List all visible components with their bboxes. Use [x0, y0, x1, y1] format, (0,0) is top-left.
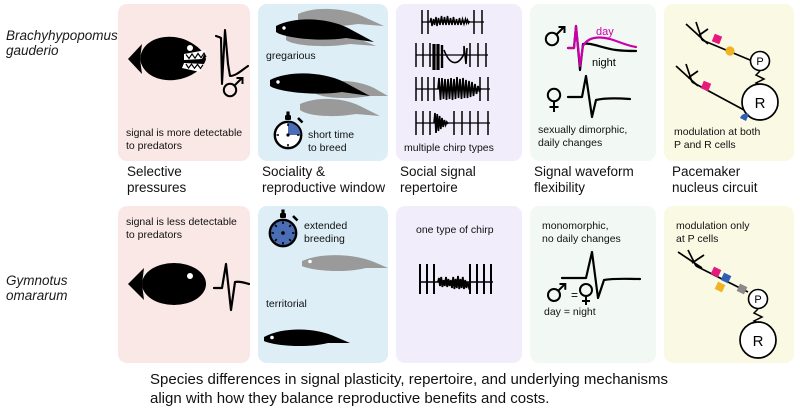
male-symbol-icon: [546, 27, 565, 45]
stopwatch-icon: [270, 210, 298, 247]
figure-caption-line1: Species differences in signal plasticity…: [150, 370, 790, 389]
receptor-marker-pink: [712, 34, 722, 44]
chirp-raster-multiple-icon: [396, 4, 522, 161]
label-night: night: [592, 57, 616, 69]
stopwatch-icon: [275, 112, 303, 149]
receptor-marker-pink: [711, 267, 722, 278]
chirp-raster-single-icon: [396, 206, 522, 363]
pacemaker-circuit-ponly-icon: P R: [664, 206, 794, 363]
svg-text:P: P: [756, 56, 763, 68]
figure-root: Brachyhypopomus gauderio Gymnotus omarar…: [0, 0, 800, 413]
svg-text:P: P: [754, 294, 761, 306]
panel-top-waveform: day night sexually dimorphic, daily chan…: [530, 4, 656, 161]
panel-bottom-selective-pressures: signal is less detectable to predators: [118, 206, 250, 363]
label-territorial: territorial: [266, 298, 307, 311]
male-symbol-icon: [224, 78, 243, 96]
column-header-repertoire: Social signal repertoire: [400, 164, 526, 196]
receptor-marker-yellow: [725, 46, 734, 55]
species-name-line2: omararum: [6, 288, 124, 303]
equality-sign: =: [571, 288, 578, 302]
column-header-sociality: Sociality & reproductive window: [262, 164, 398, 196]
figure-caption: Species differences in signal plasticity…: [150, 370, 790, 408]
caption-selective-pressures-top: signal is more detectable to predators: [126, 127, 250, 152]
column-header-pacemaker: Pacemaker nucleus circuit: [672, 164, 798, 196]
caption-repertoire-top: multiple chirp types: [404, 142, 494, 155]
eod-waveform-monomorphic-icon: =: [530, 206, 656, 363]
male-symbol-icon: [548, 284, 565, 301]
receptor-marker-pink-2: [701, 81, 711, 91]
panel-top-pacemaker: P R modulation at both P and R cells: [664, 4, 794, 161]
panel-bottom-waveform: monomorphic, no daily changes = day = ni…: [530, 206, 656, 363]
panel-top-sociality: gregarious short time to breed: [258, 4, 388, 161]
svg-text:R: R: [753, 333, 764, 350]
label-gregarious: gregarious: [266, 50, 316, 63]
species-name-line2: gauderio: [6, 43, 124, 58]
female-symbol-icon: [580, 284, 592, 305]
panel-bottom-pacemaker: modulation only at P cells P R: [664, 206, 794, 363]
label-day: day: [596, 26, 614, 38]
label-short-time-to-breed: short time to breed: [308, 129, 384, 154]
female-symbol-icon: [548, 89, 560, 112]
label-extended-breeding: extended breeding: [304, 220, 384, 245]
column-header-selective-pressures: Selective pressures: [127, 164, 257, 196]
species-name-line1: Gymnotus: [6, 273, 124, 288]
svg-text:R: R: [755, 95, 766, 112]
panel-top-selective-pressures: signal is more detectable to predators: [118, 4, 250, 161]
fish-plain-icon: [118, 206, 250, 363]
receptor-marker-blue: [740, 114, 749, 121]
receptor-marker-blue: [721, 273, 732, 284]
label-day-equals-night: day = night: [544, 306, 596, 319]
receptor-marker-yellow: [715, 282, 726, 293]
panel-top-repertoire: multiple chirp types: [396, 4, 522, 161]
species-label-top: Brachyhypopomus gauderio: [6, 28, 124, 58]
receptor-marker-grey: [737, 284, 748, 295]
panel-bottom-repertoire: one type of chirp: [396, 206, 522, 363]
panel-bottom-sociality: extended breeding territorial: [258, 206, 388, 363]
species-name-line1: Brachyhypopomus: [6, 28, 124, 43]
caption-pacemaker-top: modulation at both P and R cells: [674, 126, 794, 151]
caption-waveform-top: sexually dimorphic, daily changes: [538, 124, 654, 149]
figure-caption-line2: align with how they balance reproductive…: [150, 389, 790, 408]
species-label-bottom: Gymnotus omararum: [6, 273, 124, 303]
column-header-waveform: Signal waveform flexibility: [534, 164, 664, 196]
